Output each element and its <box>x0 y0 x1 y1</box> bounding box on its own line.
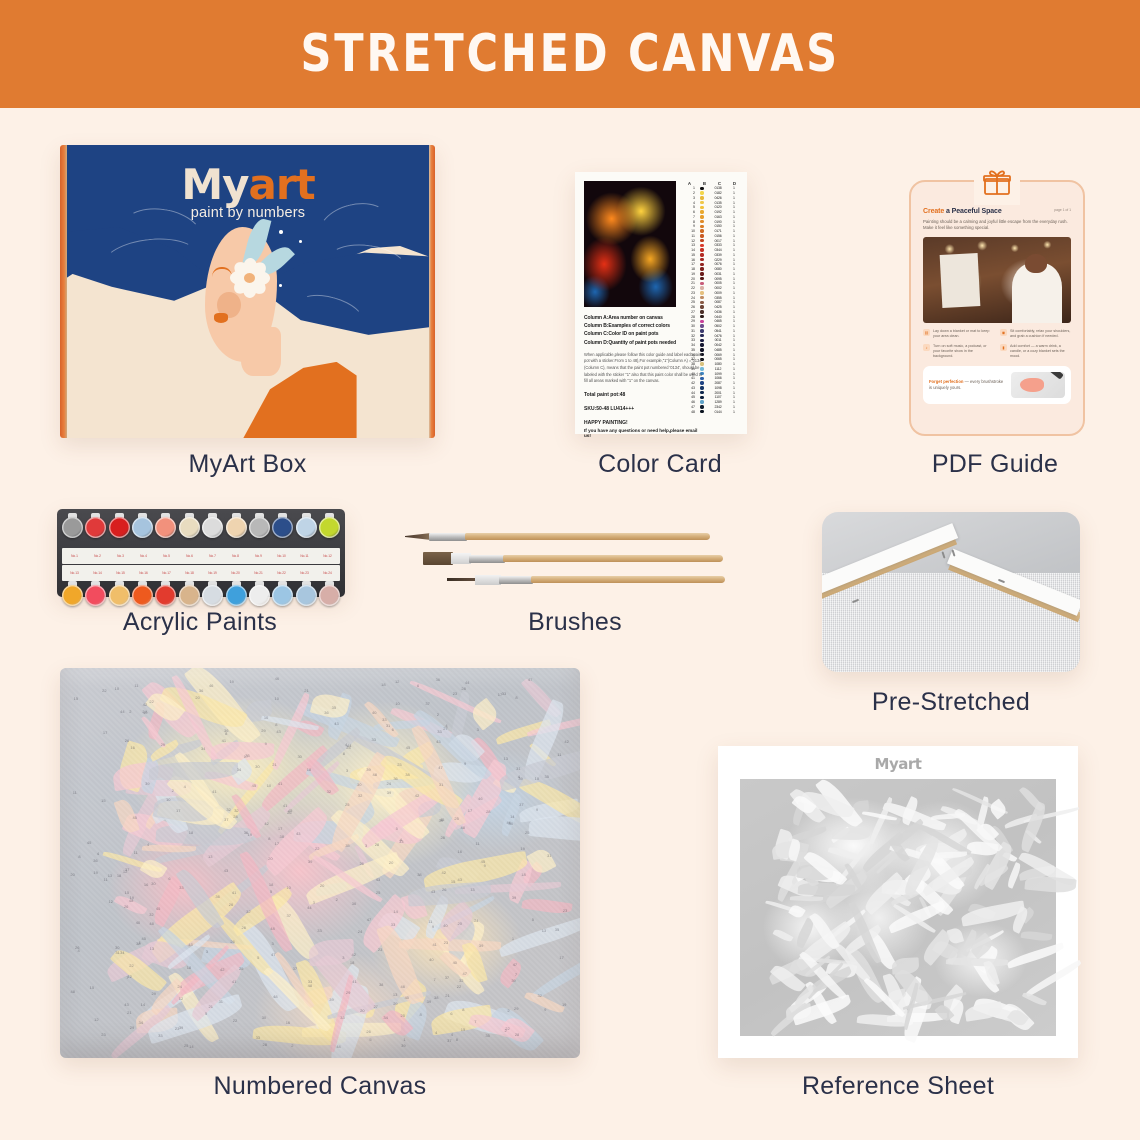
legend-b: Column B:Examples of correct colors <box>584 322 704 330</box>
logo-art-text: art <box>249 160 315 209</box>
sku-code: SKU:50-48 LU414+++ <box>584 405 704 413</box>
paint-label-strip-top: No.1No.2No.3No.4No.5No.6No.7No.8No.9No.1… <box>62 548 340 564</box>
feather-stroke <box>1025 875 1078 895</box>
paint-pot <box>226 514 247 547</box>
brush-ferrule <box>429 533 467 541</box>
painter-head <box>1025 254 1047 273</box>
color-table-row: 1700761 <box>682 262 742 267</box>
paint-label: No.11 <box>294 554 315 559</box>
acrylic-paints-image: No.1No.2No.3No.4No.5No.6No.7No.8No.9No.1… <box>57 509 345 597</box>
myart-box-image: Myart paint by numbers <box>60 145 435 438</box>
feather-stroke <box>789 895 822 901</box>
caption-acrylic-paints: Acrylic Paints <box>55 608 345 637</box>
gift-icon <box>974 161 1020 205</box>
paint-pot <box>202 514 223 547</box>
brush-ferrule <box>469 555 505 563</box>
tip-item: ▤ Lay down a blanket or mat to keep your… <box>923 329 994 340</box>
feather-stroke <box>988 799 1009 820</box>
pdf-heading-rest: a Peaceful Space <box>944 208 1001 215</box>
caption-pdf-guide: PDF Guide <box>855 450 1135 479</box>
paint-label: No.20 <box>225 571 246 576</box>
staple <box>941 551 945 558</box>
brush-handle <box>503 555 723 562</box>
pdf-description: Painting should be a calming and joyful … <box>923 219 1071 232</box>
pdf-heading-accent: Create <box>923 208 944 215</box>
callout-text: Forget perfection — every brushstroke is… <box>929 379 1005 391</box>
color-table-row: 1602291 <box>682 257 742 262</box>
color-card-image: A B C D 10138120182130426140135150120160… <box>575 172 747 434</box>
color-table-row: 1800801 <box>682 267 742 272</box>
paint-label: No.18 <box>179 571 200 576</box>
instructions-paragraph: When applicable,please follow this color… <box>584 352 704 385</box>
brush-flat-wide <box>423 555 723 562</box>
color-table-row: 801901 <box>682 219 742 224</box>
brush-flat-thin <box>447 576 725 583</box>
easel-canvas <box>939 253 980 308</box>
contact-text: If you have any questions or need help,p… <box>584 428 704 438</box>
callout-accent: Forget perfection <box>929 379 963 384</box>
pdf-guide-page: page 1 of 1 Create a Peaceful Space Pain… <box>923 208 1071 422</box>
color-card-artwork <box>584 181 676 307</box>
paint-pot-row-top <box>62 514 340 547</box>
brushes-image <box>405 525 725 595</box>
pdf-tips-list: ▤ Lay down a blanket or mat to keep your… <box>923 329 1071 360</box>
paint-label: No.5 <box>156 554 177 559</box>
feather-stroke <box>1024 960 1082 997</box>
paint-label: No.21 <box>248 571 269 576</box>
paint-pot <box>272 514 293 547</box>
legend-a: Column A:Area number on canvas <box>584 314 704 322</box>
color-table-row: 1200171 <box>682 238 742 243</box>
reference-sheet-logo: Myart <box>718 755 1078 773</box>
paint-label: No.10 <box>271 554 292 559</box>
paint-label: No.16 <box>133 571 154 576</box>
paint-pot <box>132 514 153 547</box>
music-icon: ♪ <box>923 344 930 351</box>
feather-stroke <box>1018 801 1050 852</box>
caption-color-card: Color Card <box>520 450 800 479</box>
paint-label: No.24 <box>317 571 338 576</box>
callout-image <box>1011 372 1065 398</box>
caption-reference-sheet: Reference Sheet <box>718 1072 1078 1101</box>
box-left-edge <box>60 145 67 438</box>
color-table-row: 2100051 <box>682 281 742 286</box>
feather-stroke <box>1022 991 1047 1007</box>
sparkle-dot <box>279 284 282 287</box>
paint-label: No.4 <box>133 554 154 559</box>
color-table-row: 304261 <box>682 196 742 201</box>
tip-text: Add comfort — a warm drink, a candle, or… <box>1010 344 1071 360</box>
lips <box>214 313 228 322</box>
paint-pot <box>296 514 317 547</box>
col-b-header: B <box>703 181 706 186</box>
color-card-text: Column A:Area number on canvas Column B:… <box>584 314 704 438</box>
logo-my-text: My <box>181 160 248 209</box>
caption-pre-stretched: Pre-Stretched <box>822 688 1080 717</box>
color-table-row: 1101561 <box>682 234 742 239</box>
paint-pot <box>249 514 270 547</box>
header-banner: STRETCHED CANVAS <box>0 0 1140 108</box>
color-table-row: 2000951 <box>682 276 742 281</box>
pdf-guide-image: page 1 of 1 Create a Peaceful Space Pain… <box>909 180 1085 436</box>
caption-numbered-canvas: Numbered Canvas <box>60 1072 580 1101</box>
feather-stroke <box>772 928 793 944</box>
sparkle-dot <box>299 240 302 243</box>
candle-icon: ▮ <box>1000 344 1007 351</box>
myart-logo: Myart <box>67 160 429 209</box>
brush-tip <box>405 533 431 540</box>
paint-pot <box>319 514 340 547</box>
paint-label-strip-bottom: No.13No.14No.15No.16No.17No.18No.19No.20… <box>62 565 340 581</box>
reference-sheet-image: Myart <box>718 746 1078 1058</box>
paint-label: No.6 <box>179 554 200 559</box>
canvas-edge-shading <box>60 668 580 1058</box>
legend-c: Column C:Color ID on paint pots <box>584 330 704 338</box>
brush-tip <box>423 552 453 565</box>
color-table-row: 101381 <box>682 186 742 191</box>
color-table-row: 901501 <box>682 224 742 229</box>
color-table-row: 1503391 <box>682 253 742 258</box>
box-tagline: paint by numbers <box>67 205 429 221</box>
feather-stroke <box>1006 942 1065 968</box>
tip-text: Turn on soft music, a podcast, or your f… <box>933 344 994 360</box>
color-table-row: 1001711 <box>682 229 742 234</box>
color-table-row: 1900311 <box>682 272 742 277</box>
paint-label: No.12 <box>317 554 338 559</box>
tip-text: Lay down a blanket or mat to keep your a… <box>933 329 994 340</box>
paint-pot <box>62 514 83 547</box>
paint-label: No.23 <box>294 571 315 576</box>
sparkle-dot <box>279 230 283 234</box>
paint-pot <box>179 514 200 547</box>
feather-stroke <box>831 827 870 841</box>
pdf-heading: page 1 of 1 Create a Peaceful Space <box>923 208 1071 215</box>
tip-text: Sit comfortably, relax your shoulders, a… <box>1010 329 1071 340</box>
brush-tip-band <box>475 575 501 585</box>
col-a-header: A <box>688 181 691 186</box>
color-table-row: 2403551 <box>682 295 742 300</box>
brush-handle <box>465 533 710 540</box>
paint-label: No.2 <box>87 554 108 559</box>
color-table-row: 2604251 <box>682 305 742 310</box>
paint-label: No.14 <box>87 571 108 576</box>
daisy-flower <box>232 259 268 297</box>
tip-item: ▮ Add comfort — a warm drink, a candle, … <box>1000 344 1071 360</box>
paint-label: No.7 <box>202 554 223 559</box>
color-table-row: 401351 <box>682 200 742 205</box>
pdf-page-label: page 1 of 1 <box>1054 208 1071 212</box>
brush-tip-band <box>451 553 471 564</box>
paint-label: No.8 <box>225 554 246 559</box>
paint-label: No.3 <box>110 554 131 559</box>
tip-item: ◉ Sit comfortably, relax your shoulders,… <box>1000 329 1071 340</box>
paint-label: No.17 <box>156 571 177 576</box>
paint-label: No.1 <box>64 554 85 559</box>
paint-label: No.15 <box>110 571 131 576</box>
color-table-row: 2200021 <box>682 286 742 291</box>
caption-brushes: Brushes <box>430 608 720 637</box>
color-table-row: 701631 <box>682 215 742 220</box>
pdf-photo <box>923 237 1071 323</box>
mat-icon: ▤ <box>923 329 930 336</box>
legend-d: Column D:Quantity of paint pots needed <box>584 339 704 347</box>
paint-pot <box>109 514 130 547</box>
neck-shape <box>241 327 281 377</box>
pre-stretched-image <box>822 512 1080 672</box>
chair-icon: ◉ <box>1000 329 1007 336</box>
color-table-row: 1403441 <box>682 248 742 253</box>
paint-label: No.19 <box>202 571 223 576</box>
reference-sheet-artwork <box>740 779 1056 1036</box>
brush-ferrule <box>499 576 533 584</box>
col-d-header: D <box>733 181 736 186</box>
caption-myart-box: MyArt Box <box>60 450 435 479</box>
paint-pot <box>155 514 176 547</box>
pdf-callout: Forget perfection — every brushstroke is… <box>923 366 1071 404</box>
color-table-row: 2300091 <box>682 291 742 296</box>
total-paint-pot: Total paint pot:48 <box>584 391 704 399</box>
feather-stroke <box>827 845 860 862</box>
brush-round <box>405 533 710 540</box>
feather-stroke <box>1020 930 1051 942</box>
paint-label: No.22 <box>271 571 292 576</box>
happy-painting-text: HAPPY PAINTING! <box>584 420 704 426</box>
page-title: STRETCHED CANVAS <box>300 24 839 84</box>
paint-label: No.13 <box>64 571 85 576</box>
brush-handle <box>531 576 725 583</box>
brush-stroke <box>1042 372 1064 379</box>
color-table-row: 201821 <box>682 191 742 196</box>
paint-label: No.9 <box>248 554 269 559</box>
color-table-row: 601921 <box>682 210 742 215</box>
tip-item: ♪ Turn on soft music, a podcast, or your… <box>923 344 994 360</box>
numbered-canvas-image: 4343204234155244438252510117301231122233… <box>60 668 580 1058</box>
color-table-row: 501201 <box>682 205 742 210</box>
paint-pot <box>85 514 106 547</box>
box-artwork: Myart paint by numbers <box>67 145 429 438</box>
box-right-edge <box>429 145 435 438</box>
color-table-row: 2500871 <box>682 300 742 305</box>
paint-blob <box>1020 378 1045 393</box>
color-table-row: 1303331 <box>682 243 742 248</box>
col-c-header: C <box>718 181 721 186</box>
